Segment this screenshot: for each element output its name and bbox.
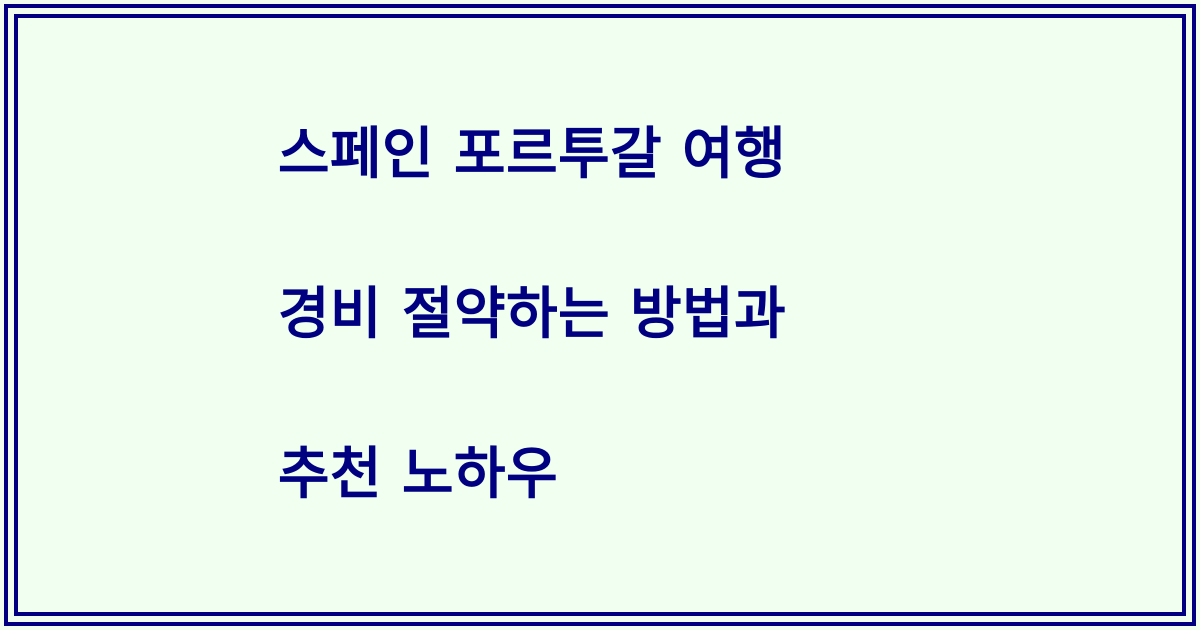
page-title: 스페인 포르투갈 여행 경비 절약하는 방법과 추천 노하우 xyxy=(278,35,786,595)
thumbnail-card: 스페인 포르투갈 여행 경비 절약하는 방법과 추천 노하우 xyxy=(0,0,1200,630)
title-line-1: 스페인 포르투갈 여행 xyxy=(278,115,786,195)
title-area: 스페인 포르투갈 여행 경비 절약하는 방법과 추천 노하우 xyxy=(0,0,1200,630)
title-line-2: 경비 절약하는 방법과 xyxy=(278,275,786,355)
title-line-3: 추천 노하우 xyxy=(278,435,786,515)
